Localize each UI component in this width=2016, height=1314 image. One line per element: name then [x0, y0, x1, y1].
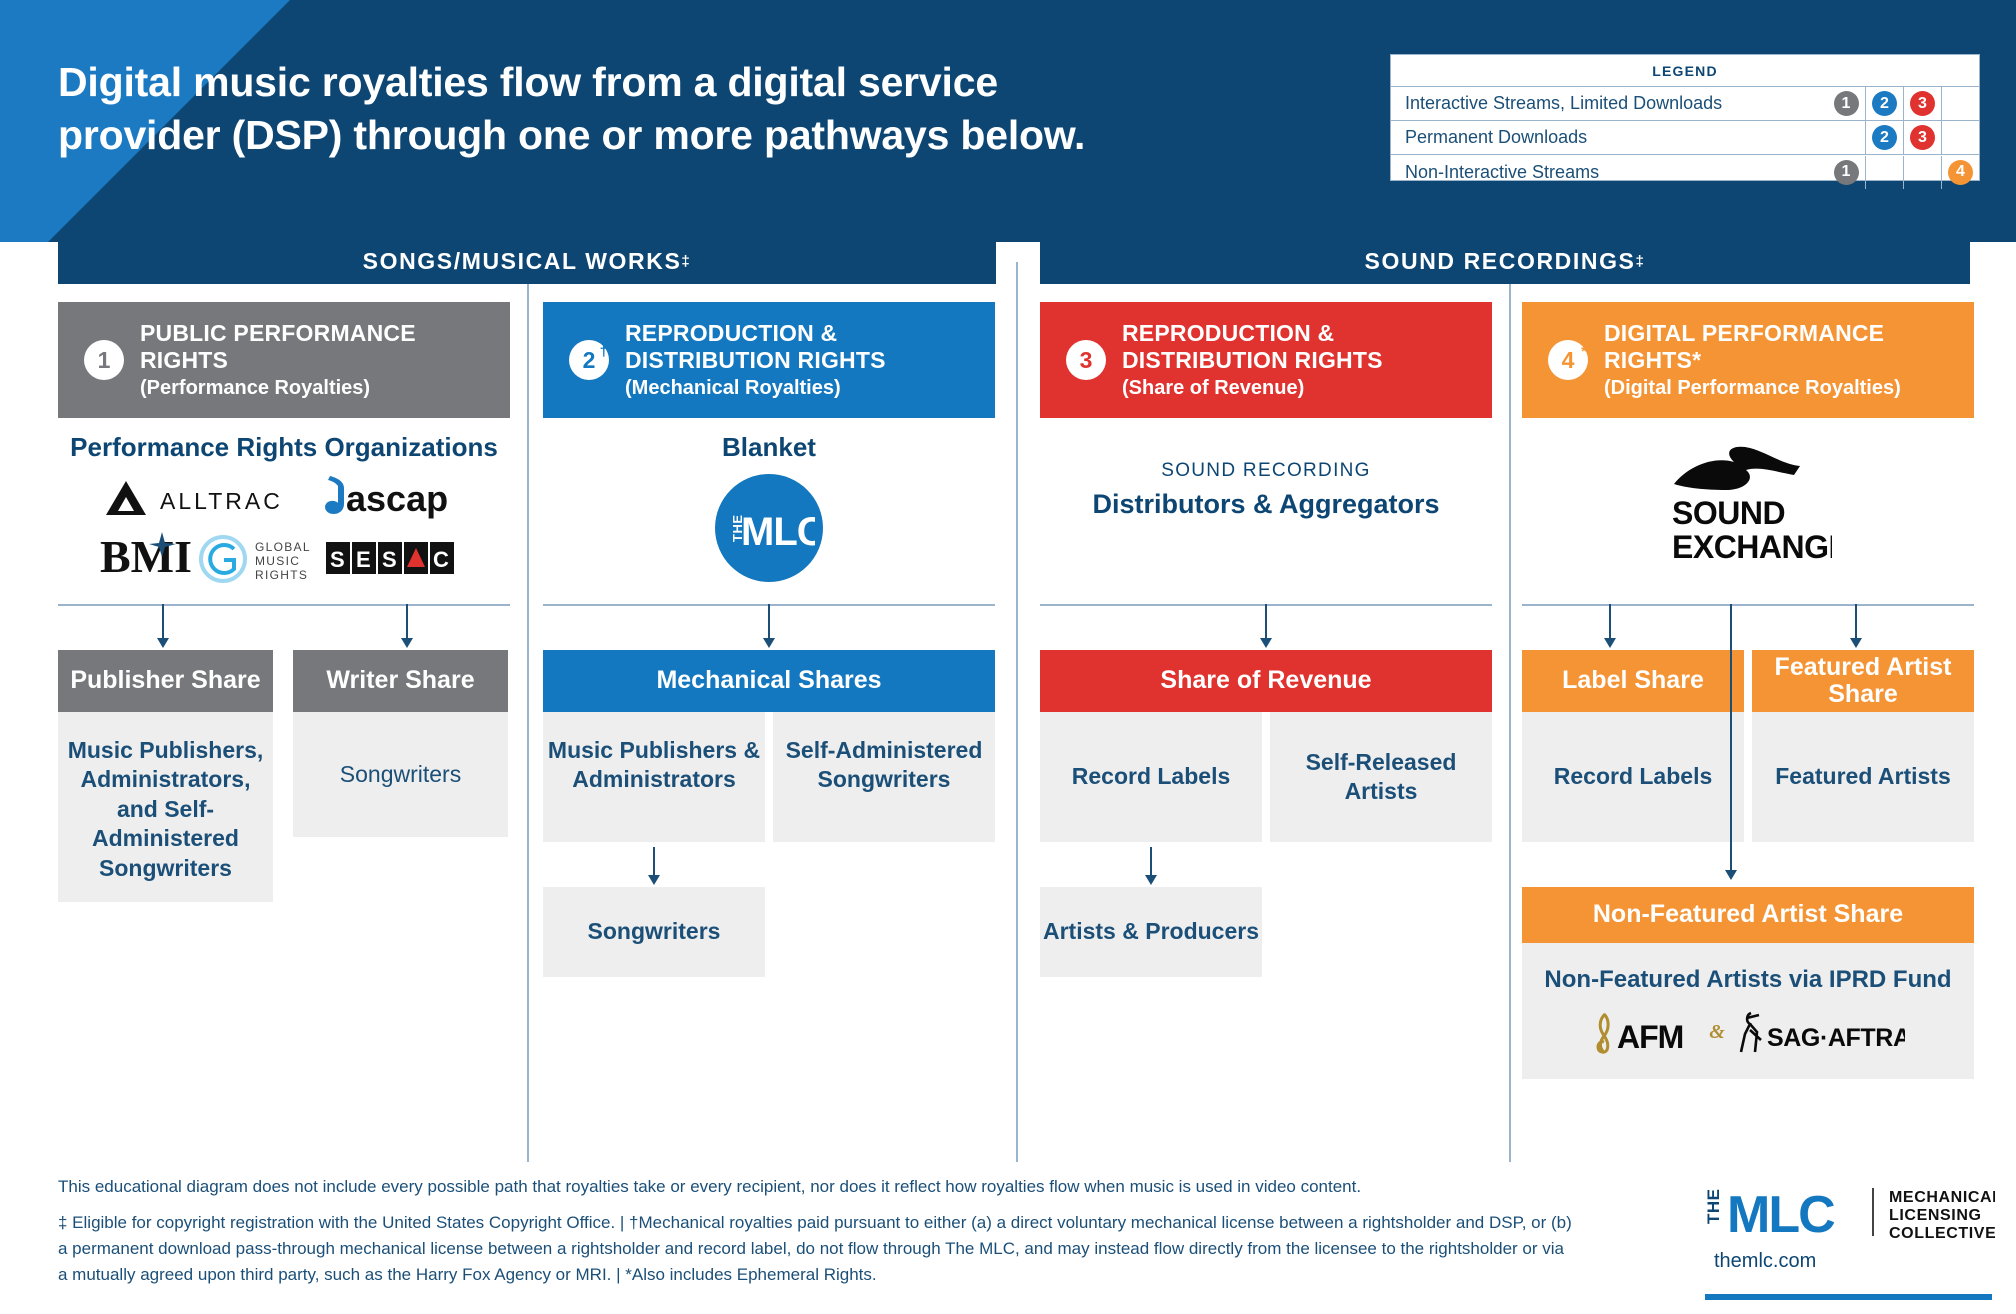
- arrow-share-of-revenue: [1260, 638, 1272, 648]
- share-body-record-labels: Record Labels: [1040, 712, 1262, 842]
- svg-text:MECHANICAL: MECHANICAL: [1889, 1189, 1995, 1206]
- svg-text:GLOBAL: GLOBAL: [255, 540, 311, 554]
- rights-header-text: DIGITAL PERFORMANCE RIGHTS* (Digital Per…: [1604, 320, 1974, 399]
- share-body-non-featured-artist-share: Non-Featured Artists via IPRD Fund AFM &…: [1522, 943, 1974, 1079]
- legend-cell-empty: [1903, 156, 1941, 189]
- connector-songwriters-flow: [653, 847, 655, 877]
- legend-cell-empty: [1941, 87, 1979, 120]
- svg-text:C: C: [433, 547, 449, 572]
- rights-header-text: REPRODUCTION & DISTRIBUTION RIGHTS (Mech…: [625, 320, 995, 399]
- rights-header-reproduction-revenue: 3 REPRODUCTION & DISTRIBUTION RIGHTS (Sh…: [1040, 302, 1492, 418]
- rights-header-title: PUBLIC PERFORMANCE RIGHTS: [140, 320, 510, 372]
- divider-songs-recordings: [1016, 262, 1018, 1162]
- sag-aftra-logo-icon: SAG·AFTRA: [1735, 1010, 1905, 1056]
- connector-share-of-revenue: [1265, 604, 1267, 640]
- share-body-songwriters-flow: Songwriters: [543, 887, 765, 977]
- page-title: Digital music royalties flow from a digi…: [58, 56, 1358, 163]
- arrow-songwriters-flow: [648, 875, 660, 885]
- legend-cell: 2: [1865, 87, 1903, 120]
- share-head-featured-artist-share: Featured Artist Share: [1752, 650, 1974, 712]
- share-body-music-publishers: Music Publishers & Administrators: [543, 712, 765, 842]
- footer-url[interactable]: themlc.com: [1714, 1250, 1816, 1273]
- rights-header-title: DIGITAL PERFORMANCE RIGHTS*: [1604, 320, 1974, 372]
- arrow-mechanical-shares: [763, 638, 775, 648]
- section-banner-recordings: SOUND RECORDINGS‡: [1040, 238, 1970, 284]
- badge-number: 4: [1562, 347, 1575, 374]
- share-head-publisher: Publisher Share: [58, 650, 273, 712]
- footer-footnotes: ‡ Eligible for copyright registration wi…: [58, 1210, 1578, 1287]
- section-banner-recordings-label: SOUND RECORDINGS: [1365, 248, 1636, 275]
- legend-title: LEGEND: [1391, 55, 1979, 87]
- arrow-publisher: [157, 638, 169, 648]
- svg-text:S: S: [330, 547, 345, 572]
- connector-publisher: [162, 604, 164, 640]
- the-mlc-circle-icon: THE MLC: [715, 474, 823, 582]
- rule-col4: [1522, 604, 1974, 606]
- legend: LEGEND Interactive Streams, Limited Down…: [1390, 54, 1980, 181]
- dagger-symbol: ‡: [681, 253, 691, 270]
- legend-row: Interactive Streams, Limited Downloads 1…: [1391, 87, 1979, 121]
- share-head-non-featured-artist-share: Non-Featured Artist Share: [1522, 887, 1974, 943]
- svg-text:ALLTRACK: ALLTRACK: [160, 488, 283, 514]
- legend-row-label: Non-Interactive Streams: [1405, 162, 1827, 183]
- legend-row-cells: 1 2 3: [1827, 87, 1979, 120]
- legend-row: Permanent Downloads 2 3: [1391, 121, 1979, 155]
- svg-text:ascap: ascap: [346, 478, 448, 519]
- footer-accent-rule: [1705, 1294, 1992, 1300]
- legend-row-label: Permanent Downloads: [1405, 127, 1827, 148]
- page-title-line1: Digital music royalties flow from a digi…: [58, 59, 998, 105]
- rights-header-subtitle: (Share of Revenue): [1122, 377, 1492, 400]
- arrow-non-featured-artist-share: [1725, 870, 1737, 880]
- connector-writer: [406, 604, 408, 640]
- svg-text:SOUND: SOUND: [1672, 495, 1785, 531]
- bmi-logo-icon: BMI: [100, 530, 196, 578]
- rights-header-public-performance: 1 PUBLIC PERFORMANCE RIGHTS (Performance…: [58, 302, 510, 418]
- rule-col1: [58, 604, 510, 606]
- legend-cell-empty: [1941, 121, 1979, 154]
- badge-number: 1: [98, 347, 111, 374]
- badge-3-icon: 3: [1066, 340, 1106, 380]
- svg-text:THE: THE: [1705, 1189, 1723, 1225]
- logo-sesac: S E S C: [326, 540, 456, 583]
- svg-text:MUSIC: MUSIC: [255, 554, 300, 568]
- svg-text:EXCHANGE: EXCHANGE: [1672, 529, 1832, 565]
- non-featured-logos: AFM & SAG·AFTRA: [1522, 1010, 1974, 1056]
- svg-text:MLC: MLC: [1727, 1186, 1835, 1244]
- logo-bmi: BMI: [100, 530, 196, 583]
- rights-header-subtitle: (Digital Performance Royalties): [1604, 377, 1974, 400]
- org-eyebrow-sound-recording: SOUND RECORDING: [1040, 460, 1492, 482]
- connector-featured-artist-share: [1855, 604, 1857, 640]
- page-title-line2: provider (DSP) through one or more pathw…: [58, 109, 1358, 162]
- alltrack-logo-icon: ALLTRACK: [98, 477, 283, 519]
- section-banner-songs-label: SONGS/MUSICAL WORKS: [363, 248, 682, 275]
- svg-text:S: S: [382, 547, 397, 572]
- share-head-label-share: Label Share: [1522, 650, 1744, 712]
- arrow-artists-producers: [1145, 875, 1157, 885]
- badge-2-icon: 2: [1872, 125, 1897, 150]
- infographic-page: Digital music royalties flow from a digi…: [0, 0, 2016, 1314]
- logo-the-mlc: THE MLC: [715, 474, 823, 582]
- dagger-symbol: ‡: [1636, 253, 1646, 270]
- badge-2-icon: 2 †: [569, 340, 609, 380]
- legend-cell: 4: [1941, 156, 1979, 189]
- connector-label-share: [1609, 604, 1611, 640]
- non-featured-label: Non-Featured Artists via IPRD Fund: [1522, 965, 1974, 996]
- badge-3-icon: 3: [1910, 91, 1935, 116]
- org-title-distributors: Distributors & Aggregators: [1040, 488, 1492, 520]
- header-banner: Digital music royalties flow from a digi…: [0, 0, 2016, 242]
- svg-text:SAG·AFTRA: SAG·AFTRA: [1767, 1024, 1905, 1052]
- legend-row-cells: 1 4: [1827, 156, 1979, 189]
- badge-superscript: †: [600, 343, 608, 360]
- logo-soundexchange: SOUND EXCHANGE: [1672, 442, 1832, 572]
- share-head-mechanical-shares: Mechanical Shares: [543, 650, 995, 712]
- section-banner-songs: SONGS/MUSICAL WORKS‡: [58, 238, 996, 284]
- soundexchange-logo-icon: SOUND EXCHANGE: [1672, 442, 1832, 567]
- ampersand-symbol: &: [1709, 1020, 1725, 1046]
- badge-1-icon: 1: [1834, 160, 1859, 185]
- badge-4-icon: 4 *: [1548, 340, 1588, 380]
- diagram-body: SONGS/MUSICAL WORKS‡ SOUND RECORDINGS‡ 1…: [0, 242, 2016, 1162]
- footer-disclaimer: This educational diagram does not includ…: [58, 1175, 1578, 1200]
- badge-3-icon: 3: [1910, 125, 1935, 150]
- rights-header-text: REPRODUCTION & DISTRIBUTION RIGHTS (Shar…: [1122, 320, 1492, 399]
- rights-header-title: REPRODUCTION & DISTRIBUTION RIGHTS: [1122, 320, 1492, 372]
- badge-2-icon: 2: [1872, 91, 1897, 116]
- logo-ascap: ascap: [320, 472, 480, 525]
- legend-cell: 3: [1903, 121, 1941, 154]
- badge-superscript: *: [1581, 343, 1587, 360]
- legend-cell: 1: [1827, 87, 1865, 120]
- share-head-share-of-revenue: Share of Revenue: [1040, 650, 1492, 712]
- logo-alltrack: ALLTRACK: [98, 477, 283, 524]
- legend-cell-empty: [1827, 121, 1865, 154]
- badge-number: 2: [583, 347, 596, 374]
- the-mlc-wordmark-icon: THE MLC: [723, 502, 815, 554]
- sesac-logo-icon: S E S C: [326, 540, 456, 578]
- connector-mechanical-shares: [768, 604, 770, 640]
- rights-header-subtitle: (Performance Royalties): [140, 377, 510, 400]
- ascap-logo-icon: ascap: [320, 472, 480, 520]
- share-body-publisher: Music Publishers, Administrators, and Se…: [58, 712, 273, 902]
- share-body-featured-artist-share: Featured Artists: [1752, 712, 1974, 842]
- rights-header-text: PUBLIC PERFORMANCE RIGHTS (Performance R…: [140, 320, 510, 399]
- legend-row: Non-Interactive Streams 1 4: [1391, 155, 1979, 189]
- share-body-writer: Songwriters: [293, 712, 508, 837]
- connector-artists-producers: [1150, 847, 1152, 877]
- footer-mlc-logo: THE MLC MECHANICAL LICENSING COLLECTIVE: [1705, 1182, 1995, 1249]
- rights-header-title: REPRODUCTION & DISTRIBUTION RIGHTS: [625, 320, 995, 372]
- svg-text:BMI: BMI: [100, 531, 192, 578]
- share-body-self-administered: Self-Administered Songwriters: [773, 712, 995, 842]
- svg-text:COLLECTIVE: COLLECTIVE: [1889, 1225, 1995, 1242]
- share-body-label-share: Record Labels: [1522, 712, 1744, 842]
- arrow-label-share: [1604, 638, 1616, 648]
- badge-1-icon: 1: [84, 340, 124, 380]
- org-title-pros: Performance Rights Organizations: [58, 432, 510, 463]
- legend-row-cells: 2 3: [1827, 121, 1979, 154]
- svg-text:AFM: AFM: [1617, 1019, 1683, 1055]
- legend-cell: 2: [1865, 121, 1903, 154]
- legend-cell: 3: [1903, 87, 1941, 120]
- legend-row-label: Interactive Streams, Limited Downloads: [1405, 93, 1827, 114]
- divider-col3-col4: [1509, 262, 1511, 1162]
- mlc-brand-logo-icon: THE MLC MECHANICAL LICENSING COLLECTIVE: [1705, 1182, 1995, 1244]
- connector-non-featured-artist-share: [1730, 604, 1732, 872]
- legend-cell: 1: [1827, 156, 1865, 189]
- svg-text:RIGHTS: RIGHTS: [255, 568, 308, 582]
- divider-col1-col2: [527, 262, 529, 1162]
- svg-text:LICENSING: LICENSING: [1889, 1207, 1982, 1224]
- svg-text:E: E: [356, 547, 371, 572]
- rights-header-digital-performance: 4 * DIGITAL PERFORMANCE RIGHTS* (Digital…: [1522, 302, 1974, 418]
- org-title-blanket: Blanket: [543, 432, 995, 463]
- share-body-self-released-artists: Self-Released Artists: [1270, 712, 1492, 842]
- non-featured-content: Non-Featured Artists via IPRD Fund AFM &…: [1522, 965, 1974, 1056]
- svg-text:MLC: MLC: [741, 510, 815, 554]
- arrow-featured-artist-share: [1850, 638, 1862, 648]
- badge-number: 3: [1080, 347, 1093, 374]
- afm-logo-icon: AFM: [1591, 1010, 1699, 1056]
- share-head-writer: Writer Share: [293, 650, 508, 712]
- rights-header-subtitle: (Mechanical Royalties): [625, 377, 995, 400]
- share-body-artists-producers: Artists & Producers: [1040, 887, 1262, 977]
- legend-cell-empty: [1865, 156, 1903, 189]
- badge-1-icon: 1: [1834, 91, 1859, 116]
- rights-header-reproduction-mechanical: 2 † REPRODUCTION & DISTRIBUTION RIGHTS (…: [543, 302, 995, 418]
- arrow-writer: [401, 638, 413, 648]
- badge-4-icon: 4: [1948, 160, 1973, 185]
- footer: This educational diagram does not includ…: [0, 1162, 2016, 1314]
